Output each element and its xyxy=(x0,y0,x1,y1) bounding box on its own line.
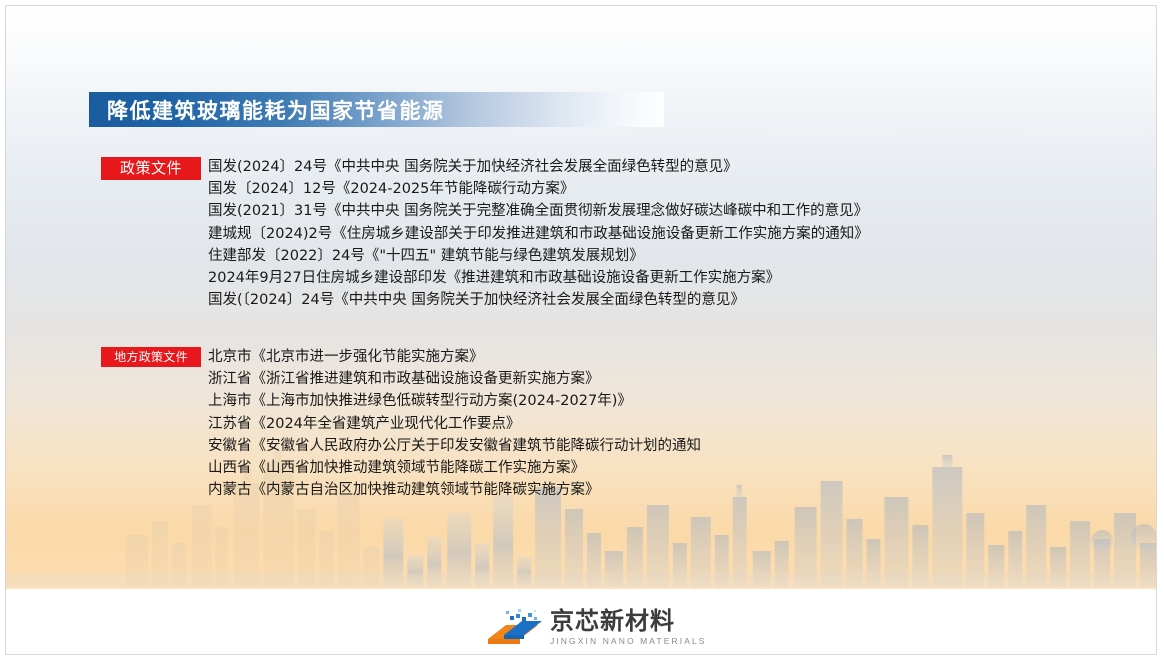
badge-national-policy: 政策文件 xyxy=(101,157,201,180)
badge-local-policy: 地方政策文件 xyxy=(101,347,201,367)
logo-name-en: JINGXIN NANO MATERIALS xyxy=(550,635,684,647)
list-item: 国发(2021〕31号《中共中央 国务院关于完整准确全面贯彻新发展理念做好碳达峰… xyxy=(208,200,869,222)
logo-mark-icon xyxy=(484,609,546,649)
list-item: 上海市《上海市加快推进绿色低碳转型行动方案(2024-2027年)》 xyxy=(208,390,701,412)
slide-frame: 降低建筑玻璃能耗为国家节省能源 政策文件 国发(2024〕24号《中共中央 国务… xyxy=(5,5,1157,655)
list-item: 国发〔2024〕12号《2024-2025年节能降碳行动方案》 xyxy=(208,178,869,200)
company-logo: 京芯新材料 JINGXIN NANO MATERIALS xyxy=(484,607,684,651)
slide-title-banner: 降低建筑玻璃能耗为国家节省能源 xyxy=(89,92,664,127)
list-item: 北京市《北京市进一步强化节能实施方案》 xyxy=(208,346,701,368)
list-item: 内蒙古《内蒙古自治区加快推动建筑领域节能降碳实施方案》 xyxy=(208,479,701,501)
national-policy-list: 国发(2024〕24号《中共中央 国务院关于加快经济社会发展全面绿色转型的意见》… xyxy=(208,156,869,311)
list-item: 建城规〔2024)2号《住房城乡建设部关于印发推进建筑和市政基础设施设备更新工作… xyxy=(208,223,869,245)
list-item: 国发(2024〕24号《中共中央 国务院关于加快经济社会发展全面绿色转型的意见》 xyxy=(208,156,869,178)
list-item: 2024年9月27日住房城乡建设部印发《推进建筑和市政基础设施设备更新工作实施方… xyxy=(208,267,869,289)
list-item: 江苏省《2024年全省建筑产业现代化工作要点》 xyxy=(208,413,701,435)
list-item: 国发(〔2024〕24号《中共中央 国务院关于加快经济社会发展全面绿色转型的意见… xyxy=(208,289,869,311)
list-item: 山西省《山西省加快推动建筑领域节能降碳工作实施方案》 xyxy=(208,457,701,479)
list-item: 住建部发〔2022〕24号《"十四五" 建筑节能与绿色建筑发展规划》 xyxy=(208,245,869,267)
logo-text: 京芯新材料 JINGXIN NANO MATERIALS xyxy=(550,607,684,647)
list-item: 安徽省《安徽省人民政府办公厅关于印发安徽省建筑节能降碳行动计划的通知 xyxy=(208,435,701,457)
local-policy-list: 北京市《北京市进一步强化节能实施方案》 浙江省《浙江省推进建筑和市政基础设施设备… xyxy=(208,346,701,501)
logo-name-cn: 京芯新材料 xyxy=(550,607,684,635)
list-item: 浙江省《浙江省推进建筑和市政基础设施设备更新实施方案》 xyxy=(208,368,701,390)
page-title: 降低建筑玻璃能耗为国家节省能源 xyxy=(107,95,445,125)
